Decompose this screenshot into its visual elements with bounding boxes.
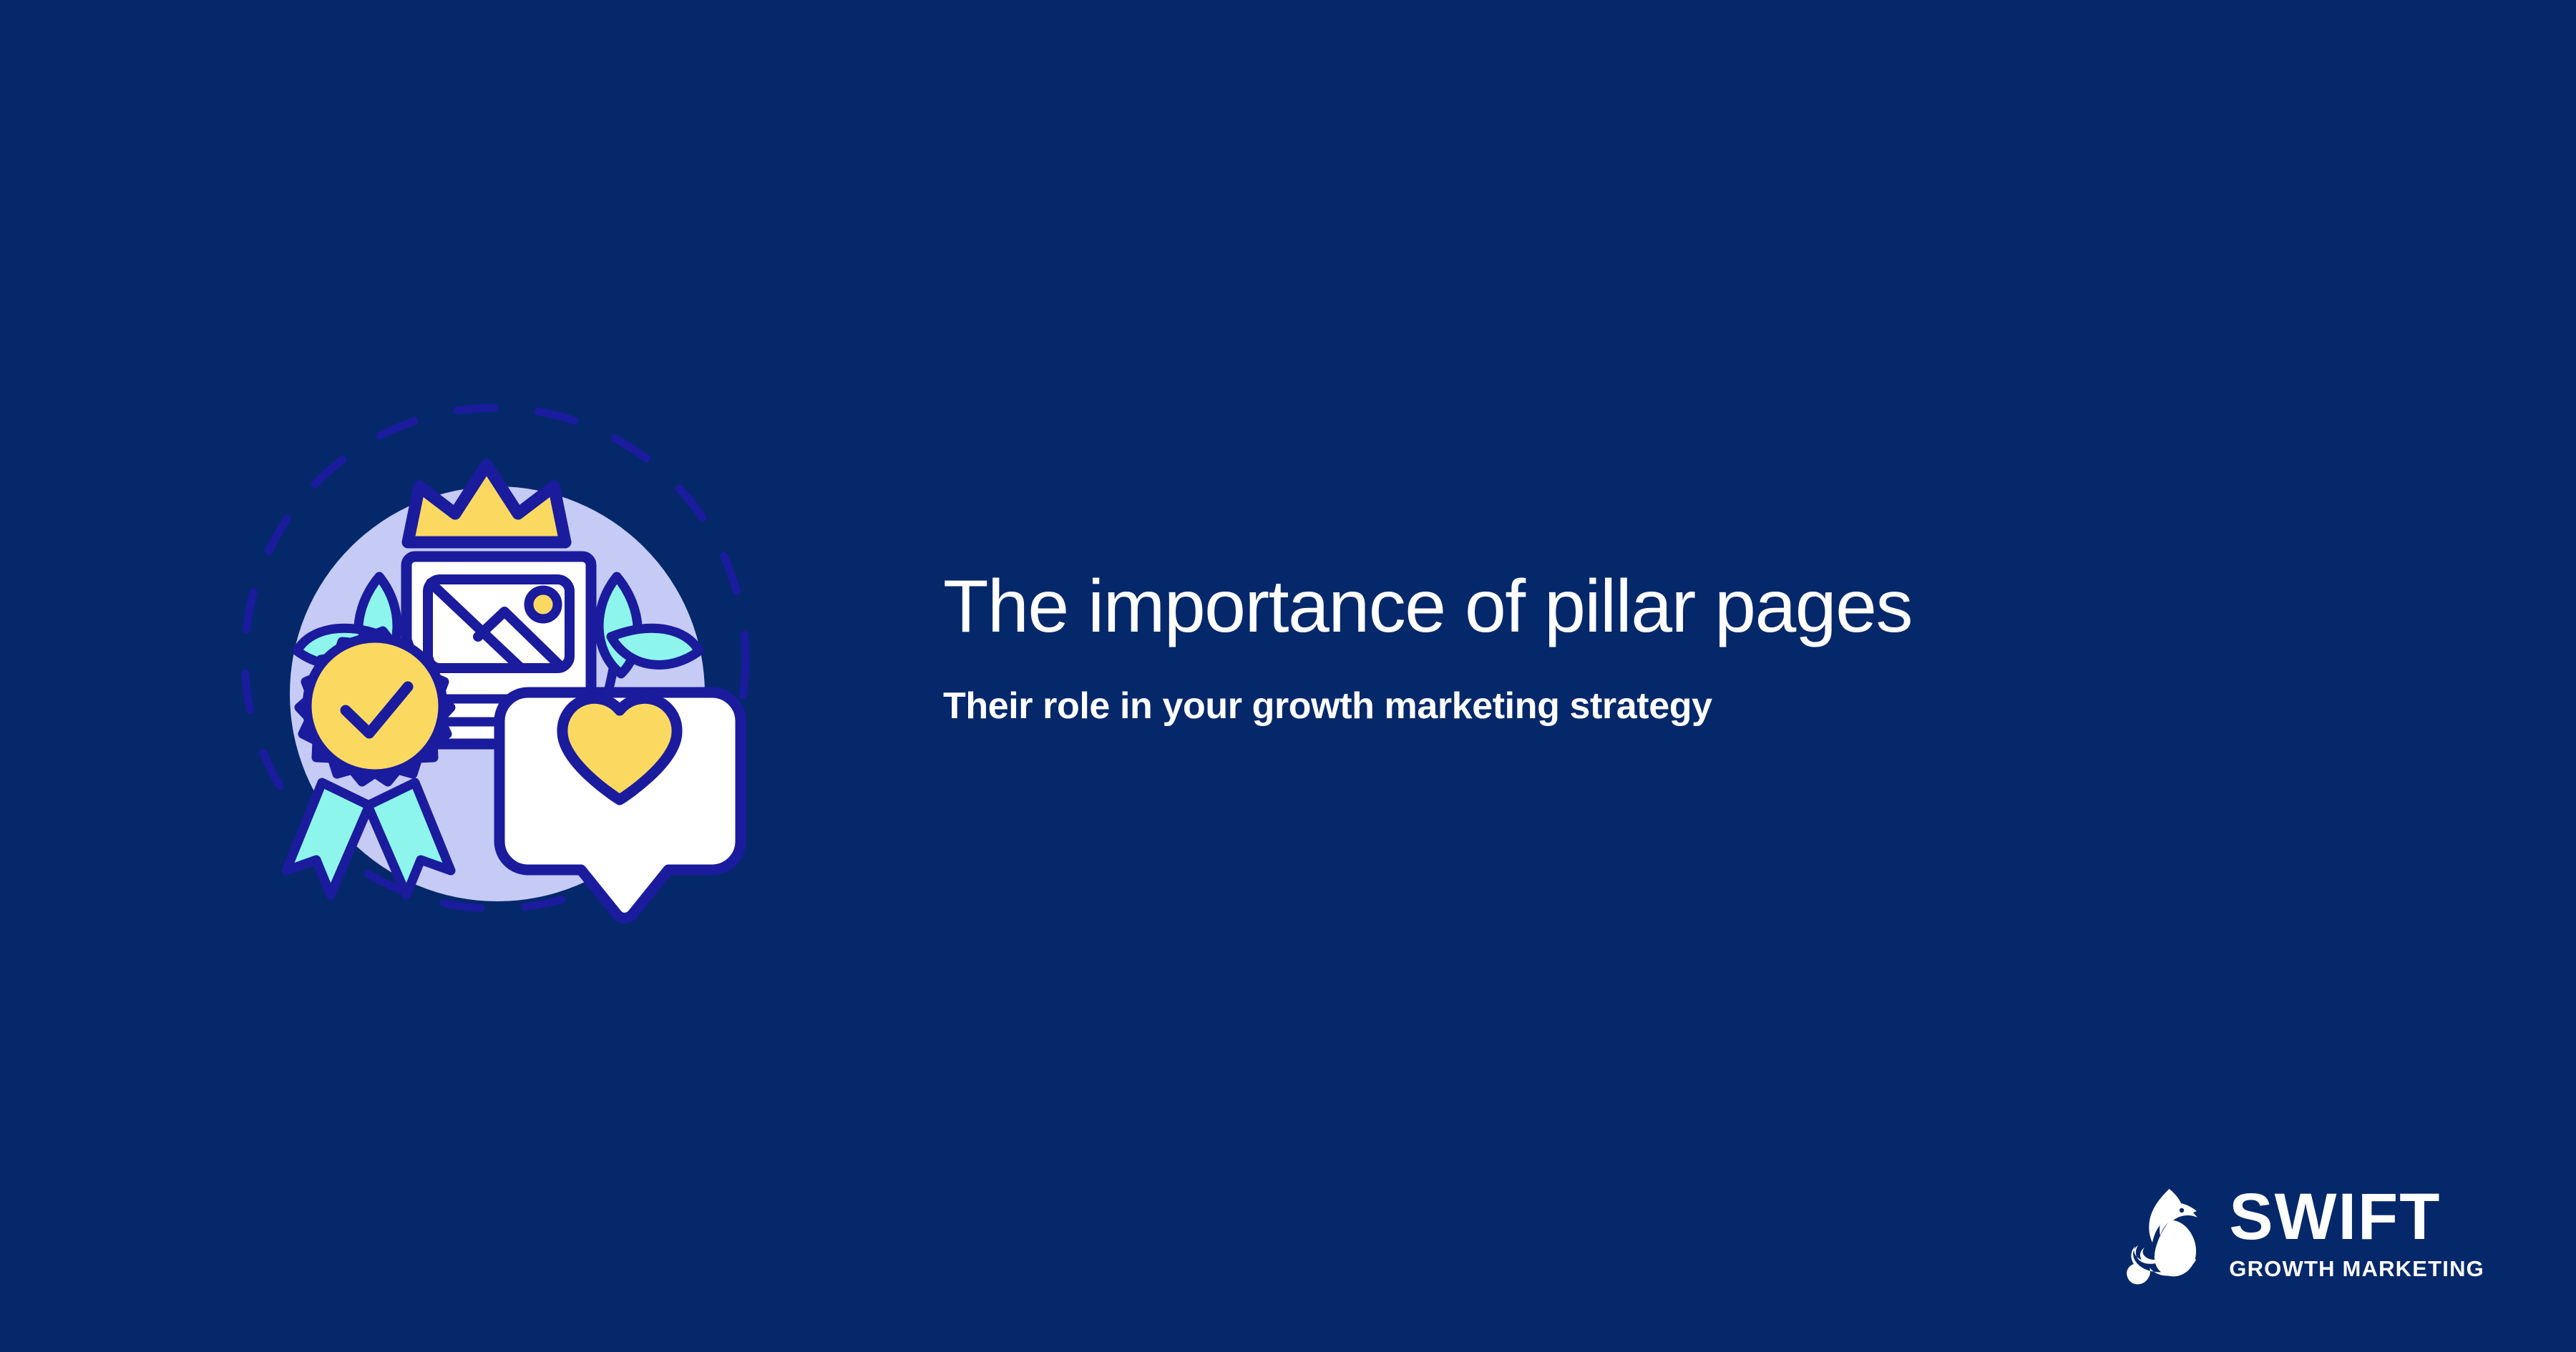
banner-canvas: The importance of pillar pages Their rol… xyxy=(0,0,2576,1352)
swift-fox-logo-icon xyxy=(2124,1179,2205,1286)
hero-illustration xyxy=(200,351,801,994)
crown-icon xyxy=(408,465,565,542)
brand-wordmark-group: SWIFT GROWTH MARKETING xyxy=(2229,1185,2484,1279)
page-subtitle: Their role in your growth marketing stra… xyxy=(943,682,2303,731)
brand-tagline: GROWTH MARKETING xyxy=(2229,1258,2484,1280)
image-sun-dot xyxy=(529,590,557,619)
hero-text-block: The importance of pillar pages Their rol… xyxy=(943,565,2303,731)
page-title: The importance of pillar pages xyxy=(943,565,2303,648)
brand-wordmark: SWIFT xyxy=(2229,1185,2484,1248)
brand-logo-lockup: SWIFT GROWTH MARKETING xyxy=(2124,1179,2484,1286)
